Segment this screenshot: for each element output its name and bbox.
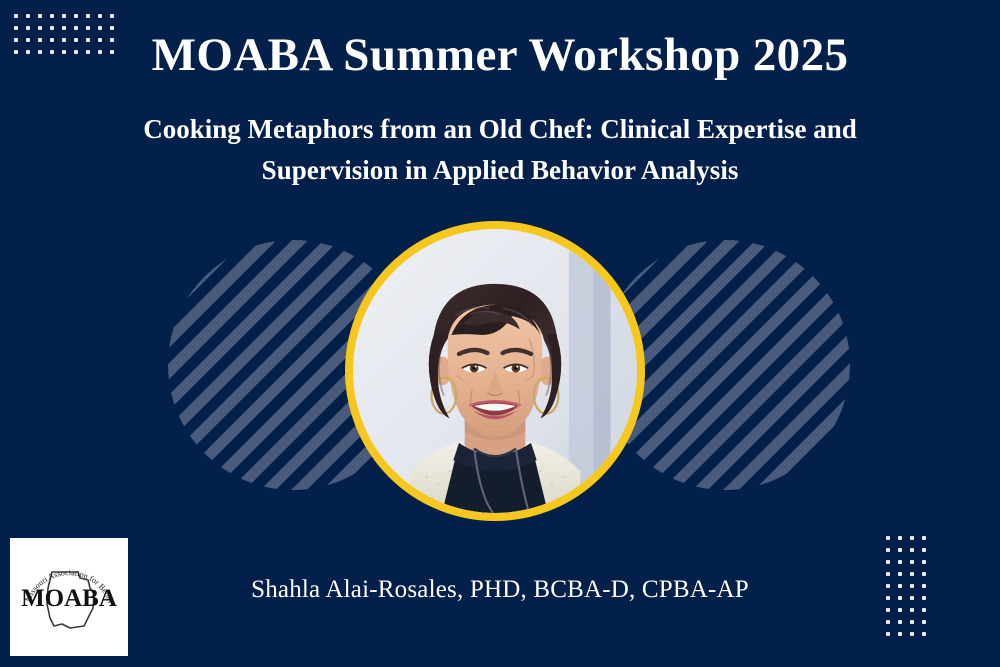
session-subtitle-line1: Cooking Metaphors from an Old Chef: Clin… <box>26 109 974 150</box>
session-subtitle-line2: Supervision in Applied Behavior Analysis <box>26 150 974 191</box>
slide-canvas: MOABA Summer Workshop 2025 Cooking Metap… <box>0 0 1000 667</box>
dot <box>886 560 890 564</box>
speaker-name: Shahla Alai-Rosales, PHD, BCBA-D, CPBA-A… <box>0 576 1000 604</box>
dot <box>886 548 890 552</box>
dot <box>26 14 30 18</box>
moaba-logo: Missouri Association for Behavior Analys… <box>10 538 128 656</box>
dot <box>62 14 66 18</box>
speaker-portrait-frame <box>345 221 645 521</box>
dot <box>50 14 54 18</box>
dot <box>886 620 890 624</box>
dot <box>910 536 914 540</box>
dot <box>898 608 902 612</box>
dot <box>898 548 902 552</box>
page-title: MOABA Summer Workshop 2025 <box>0 30 1000 81</box>
logo-wordmark: MOABA <box>21 585 117 612</box>
speaker-portrait-photo <box>353 229 637 513</box>
dot <box>886 608 890 612</box>
dot <box>898 620 902 624</box>
dot <box>110 14 114 18</box>
dot <box>922 560 926 564</box>
dot <box>886 536 890 540</box>
dot <box>922 608 926 612</box>
dot <box>922 632 926 636</box>
dot <box>38 14 42 18</box>
dot <box>14 14 18 18</box>
title-block: MOABA Summer Workshop 2025 Cooking Metap… <box>0 30 1000 191</box>
dot <box>910 560 914 564</box>
dot <box>86 14 90 18</box>
dot <box>898 632 902 636</box>
dot <box>898 536 902 540</box>
dot <box>910 620 914 624</box>
dot <box>910 548 914 552</box>
dot <box>910 608 914 612</box>
dot <box>886 632 890 636</box>
dot <box>922 620 926 624</box>
dot <box>98 14 102 18</box>
dot <box>898 560 902 564</box>
dot <box>910 632 914 636</box>
dot <box>74 14 78 18</box>
dot <box>922 536 926 540</box>
dot <box>922 548 926 552</box>
session-subtitle: Cooking Metaphors from an Old Chef: Clin… <box>0 109 1000 191</box>
